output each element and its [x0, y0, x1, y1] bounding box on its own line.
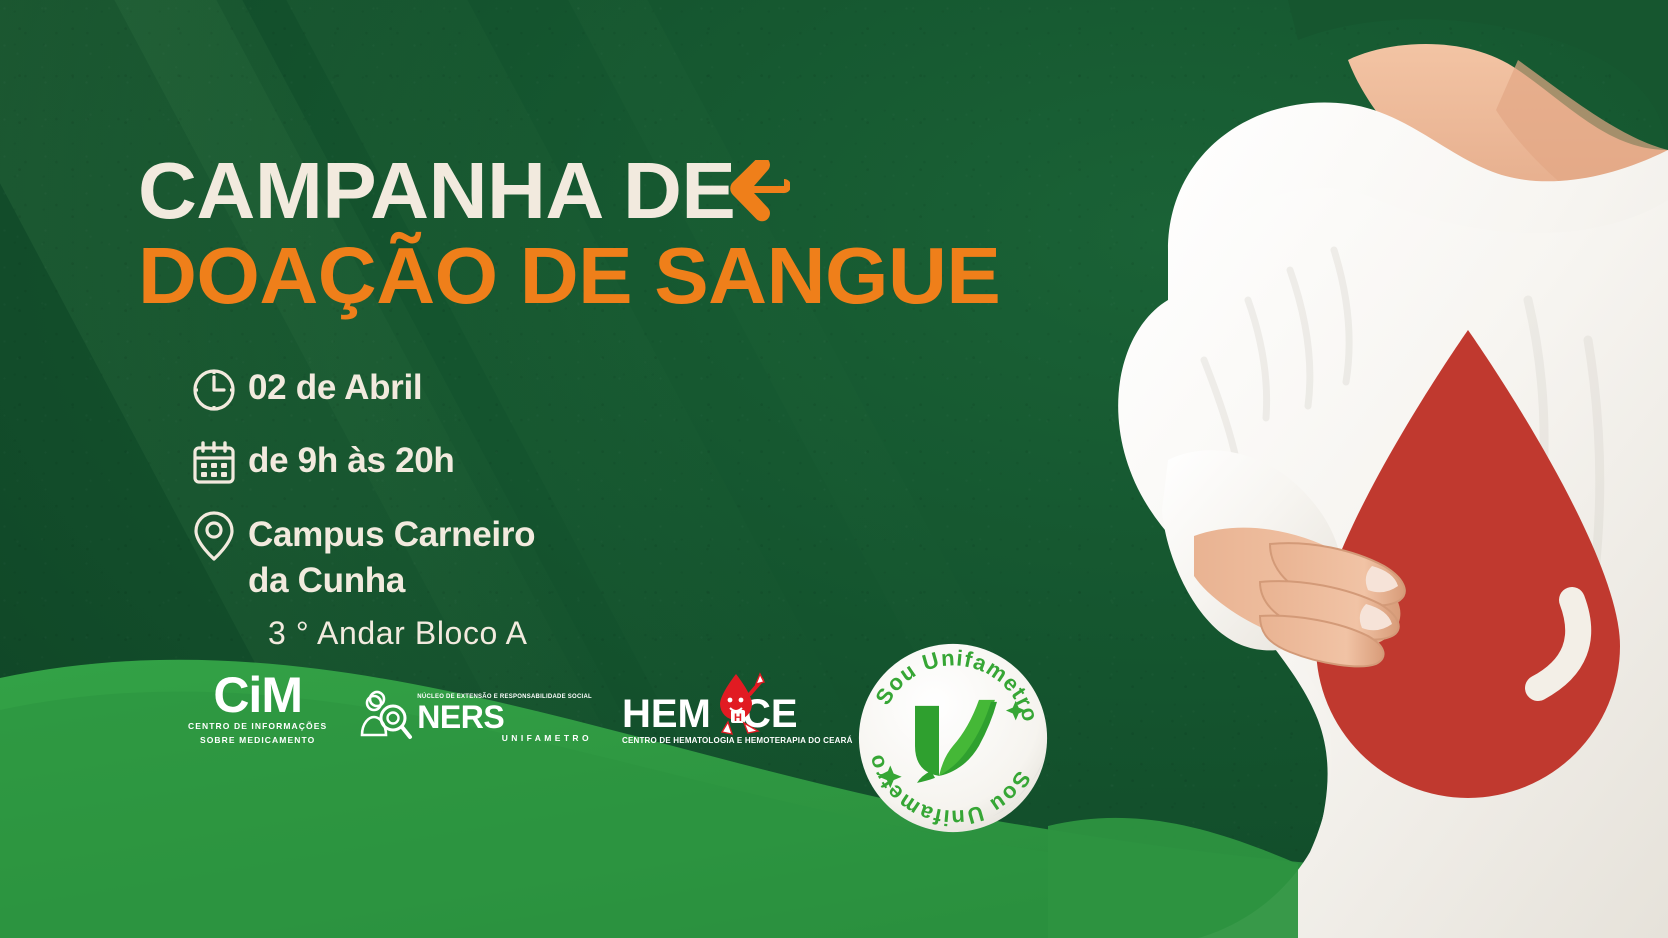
arrow-left-icon	[728, 160, 790, 226]
hemoce-tagline: CENTRO DE HEMATOLOGIA E HEMOTERAPIA DO C…	[622, 736, 853, 746]
donor-photo	[1048, 0, 1668, 938]
sou-unifametro-sticker: Sou Unifametro Sou Unifametro	[855, 640, 1051, 836]
sticker-disc	[859, 644, 1047, 832]
ners-text-block: NÚCLEO DE EXTENSÃO E RESPONSABILIDADE SO…	[417, 693, 592, 744]
hemoce-logo: HEMOCE H CENTRO DE HEMATOLOGIA E HEMOTER…	[622, 694, 853, 746]
hemoce-blood-drop-mascot-icon: H	[710, 670, 768, 736]
ners-logo: NÚCLEO DE EXTENSÃO E RESPONSABILIDADE SO…	[357, 690, 592, 746]
svg-text:H: H	[734, 712, 742, 724]
calendar-icon	[190, 435, 248, 491]
detail-row-location: Campus Carneiro da Cunha	[190, 508, 830, 604]
campaign-title-line2: DOAÇÃO DE SANGUE	[138, 232, 1056, 320]
hemoce-wordmark: HEMOCE H	[622, 694, 798, 734]
partner-logos: CiM CENTRO DE INFORMAÇÕES SOBRE MEDICAME…	[188, 668, 853, 746]
hemoce-wordmark-part1: HEM	[622, 692, 711, 736]
clock-icon	[190, 362, 248, 418]
location-pin-icon	[190, 508, 248, 564]
detail-row-time: de 9h às 20h	[190, 435, 830, 491]
detail-location-label: Campus Carneiro da Cunha	[248, 508, 535, 604]
ners-wordmark: NERS	[417, 701, 504, 733]
campaign-banner: CAMPANHA DE DOAÇÃO DE SANGUE 02 de Ab	[0, 0, 1668, 938]
detail-time-label: de 9h às 20h	[248, 435, 455, 483]
cim-tagline-line2: SOBRE MEDICAMENTO	[200, 735, 315, 746]
cim-logo: CiM CENTRO DE INFORMAÇÕES SOBRE MEDICAME…	[188, 672, 327, 746]
campaign-title-line1: CAMPANHA DE	[138, 151, 735, 231]
location-line-1: Campus Carneiro	[248, 512, 535, 558]
headline-line-1: CAMPANHA DE	[138, 150, 1038, 232]
detail-date-label: 02 de Abril	[248, 362, 422, 410]
address-sub-label: 3 ° Andar Bloco A	[268, 613, 830, 653]
cim-wordmark: CiM	[213, 672, 302, 718]
event-details: 02 de Abril	[190, 362, 830, 653]
detail-row-date: 02 de Abril	[190, 362, 830, 418]
location-line-2: da Cunha	[248, 558, 535, 604]
ners-sub-label: UNIFAMETRO	[502, 733, 592, 744]
ners-person-search-icon	[357, 690, 413, 746]
headline-block: CAMPANHA DE DOAÇÃO DE SANGUE	[138, 150, 1038, 320]
